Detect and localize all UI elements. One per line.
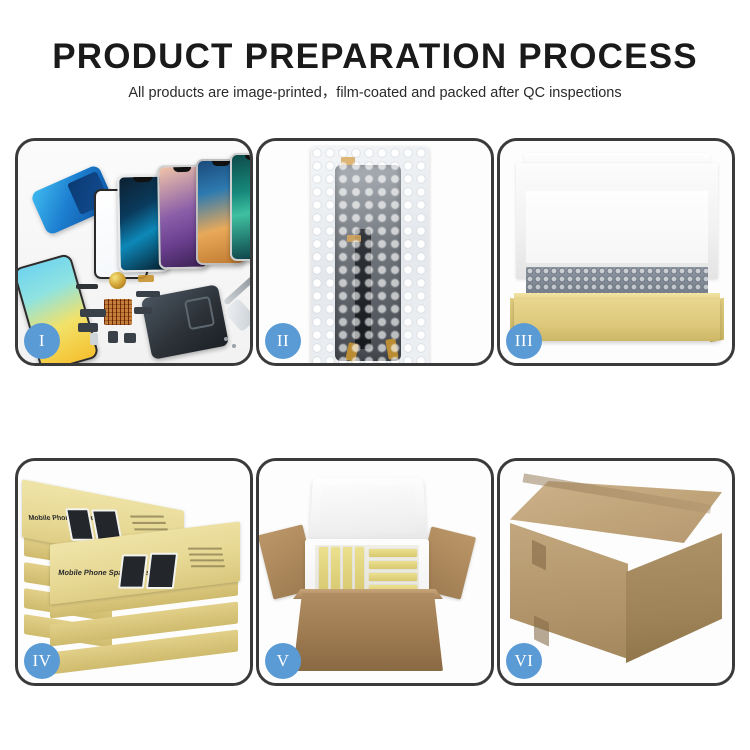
box-spec-line-1 — [130, 516, 164, 518]
step-badge-5: V — [265, 643, 301, 679]
sim-tray-part — [90, 333, 98, 345]
inner-yellow-box-7 — [369, 573, 417, 581]
logic-board-part — [104, 299, 132, 325]
carton-side-face — [626, 533, 722, 663]
box-screen-img-4 — [146, 553, 178, 589]
box-spec-line-6 — [189, 554, 223, 556]
tape-piece-2 — [347, 235, 361, 242]
flex-cable-2 — [78, 323, 98, 332]
outer-carton — [293, 593, 443, 671]
camera-module-part — [108, 331, 118, 343]
carton-front-face — [510, 523, 628, 659]
product-preparation-infographic: PRODUCT PREPARATION PROCESS All products… — [0, 0, 750, 750]
connector-part — [138, 275, 154, 282]
foam-lid-inner — [319, 486, 418, 533]
box-screen-img-1 — [65, 508, 95, 541]
inner-yellow-box-6 — [369, 561, 417, 569]
page-subtitle: All products are image-printed，film-coat… — [0, 86, 750, 101]
process-step-5[interactable]: V — [256, 458, 494, 686]
screw-part-2 — [232, 344, 236, 348]
flex-cable-1 — [80, 309, 106, 317]
box-screen-img-3 — [118, 554, 148, 588]
step-badge-1: I — [24, 323, 60, 359]
step-badge-4: IV — [24, 643, 60, 679]
earpiece-part — [76, 284, 98, 289]
screw-part-1 — [224, 337, 228, 341]
box-stack: Mobile Phone Spare Parts Mobile Phon — [22, 477, 248, 677]
white-foam-sheet — [526, 191, 708, 263]
process-step-3[interactable]: III — [497, 138, 735, 366]
step-badge-2: II — [265, 323, 301, 359]
foam-lid — [309, 477, 427, 541]
page-title: PRODUCT PREPARATION PROCESS — [0, 39, 750, 74]
process-step-2[interactable]: II — [256, 138, 494, 366]
speaker-coil-part — [109, 272, 126, 289]
wrapped-flex-cable — [355, 229, 371, 349]
process-step-grid: I II — [15, 138, 735, 694]
box-spec-line-3 — [134, 528, 168, 530]
inner-yellow-box-3 — [343, 547, 352, 593]
box-spec-line-8 — [191, 565, 225, 567]
process-step-1[interactable]: I — [15, 138, 253, 366]
box-spec-line-7 — [190, 559, 224, 561]
inner-yellow-box-1 — [319, 547, 328, 593]
phone-screen-4 — [230, 153, 250, 261]
inner-yellow-box-2 — [331, 547, 340, 593]
step-badge-6: VI — [506, 643, 542, 679]
process-step-6[interactable]: VI — [497, 458, 735, 686]
bubble-wrap-package — [311, 147, 429, 363]
box-spec-line-5 — [188, 548, 222, 550]
flex-cable-3 — [136, 291, 160, 297]
tape-piece-1 — [341, 157, 355, 165]
inner-yellow-box-5 — [369, 549, 417, 557]
process-step-4[interactable]: Mobile Phone Spare Parts Mobile Phon — [15, 458, 253, 686]
box-spec-line-2 — [132, 522, 166, 524]
inner-yellow-box-4 — [355, 547, 364, 593]
kraft-box-base — [514, 299, 720, 341]
step-badge-3: III — [506, 323, 542, 359]
flex-cable-4 — [134, 307, 152, 314]
vibrator-part — [124, 333, 136, 343]
header: PRODUCT PREPARATION PROCESS All products… — [0, 0, 750, 101]
